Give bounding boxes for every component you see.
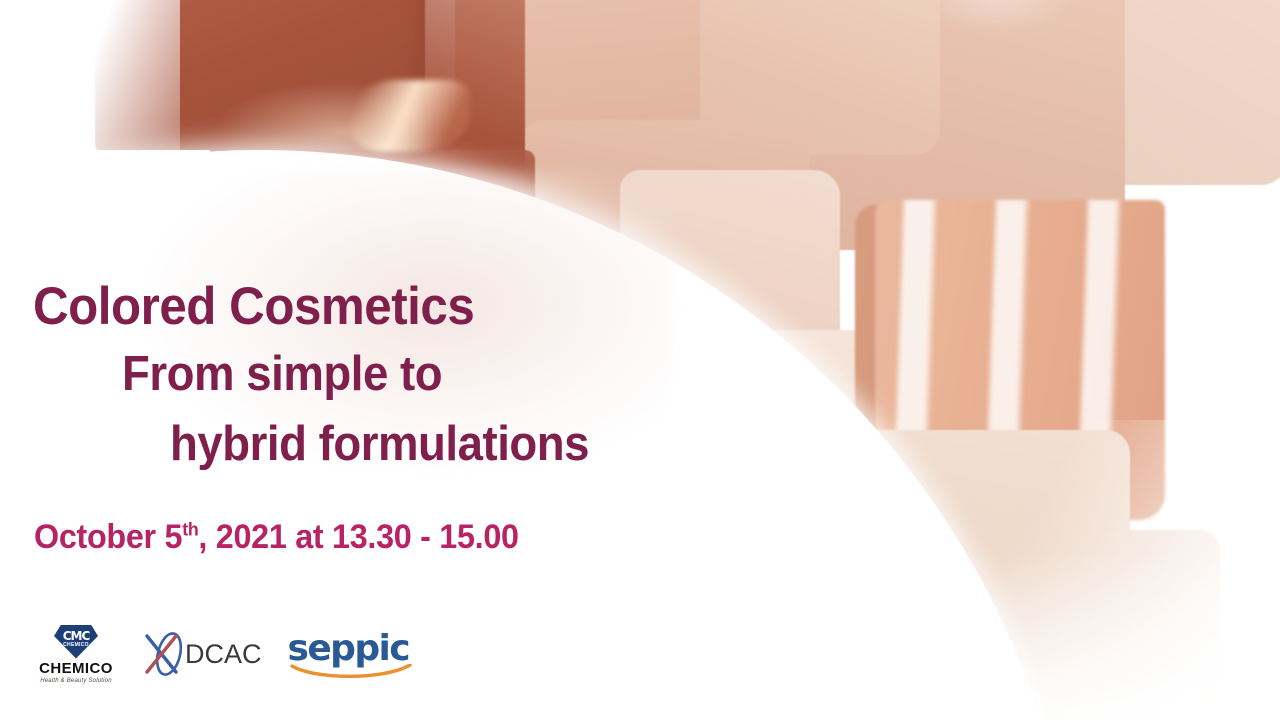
chemico-wordmark: CHEMICO — [39, 660, 113, 677]
page-title-line-3: hybrid formulations — [170, 420, 589, 469]
dcac-logo[interactable]: DCAC — [142, 630, 262, 678]
seppic-wordmark: seppic — [288, 631, 416, 667]
page-title-line-2: From simple to — [122, 350, 442, 399]
seppic-swoosh-icon — [290, 664, 412, 680]
chemico-badge-label: CHEMICO — [54, 642, 98, 648]
chemico-tagline: Health & Beauty Solution — [40, 678, 112, 684]
event-date-ordinal-suffix: th — [182, 519, 198, 540]
promotional-slide: Colored Cosmetics From simple to hybrid … — [0, 0, 1280, 720]
page-title-line-1: Colored Cosmetics — [33, 280, 474, 333]
event-datetime: October 5th, 2021 at 13.30 - 15.00 — [34, 520, 519, 554]
chemico-monogram: CMC — [54, 629, 98, 643]
dcac-x-ellipse-icon — [142, 630, 188, 678]
dcac-wordmark: DCAC — [185, 639, 262, 670]
event-date-rest: , 2021 at 13.30 - 15.00 — [198, 518, 518, 556]
seppic-logo[interactable]: seppic — [288, 631, 416, 677]
event-date-prefix: October 5 — [34, 518, 182, 556]
partner-logo-row: CMC CHEMICO CHEMICO Health & Beauty Solu… — [30, 618, 416, 690]
chemico-badge-icon: CMC CHEMICO — [54, 625, 98, 659]
chemico-logo[interactable]: CMC CHEMICO CHEMICO Health & Beauty Solu… — [30, 625, 122, 684]
